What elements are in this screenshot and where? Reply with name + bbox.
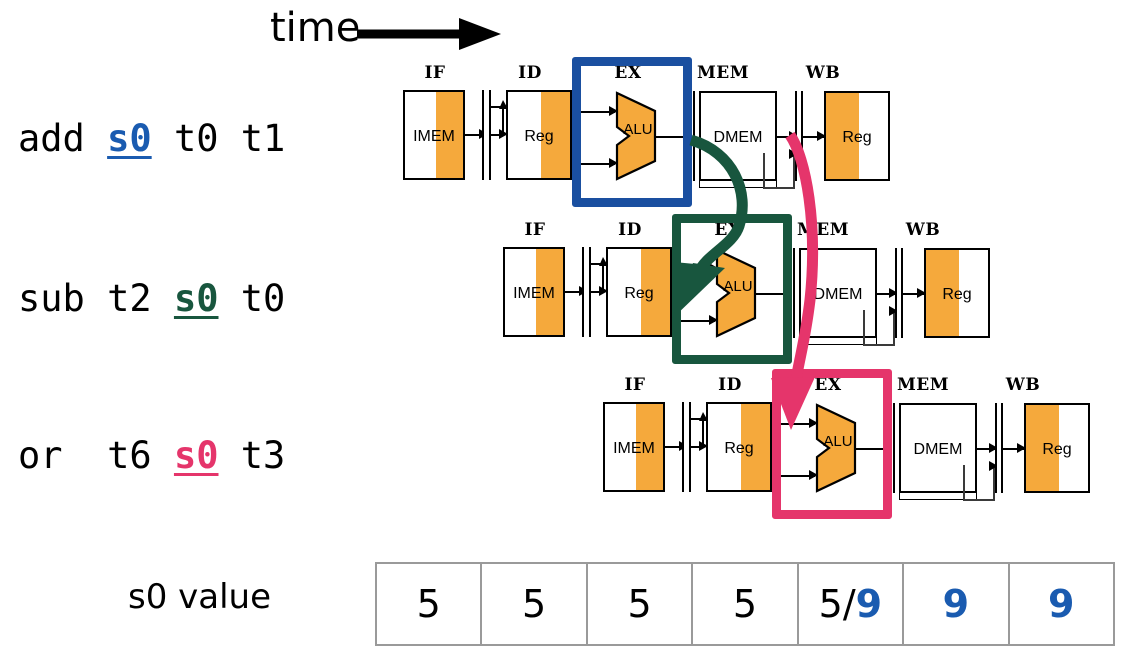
stage-label-wb: WB bbox=[988, 377, 1058, 394]
stage-label-id: ID bbox=[695, 377, 765, 394]
register-highlight-s0-or: s0 bbox=[174, 434, 219, 477]
cell-value: 5 bbox=[522, 585, 546, 623]
instruction-text-post: t3 bbox=[219, 434, 286, 477]
stage-label-if: IF bbox=[400, 65, 470, 82]
instruction-text-pre: sub t2 bbox=[18, 277, 174, 320]
instruction-row-sub: sub t2 s0 t0 bbox=[18, 280, 285, 317]
dmem-label: DMEM bbox=[701, 130, 775, 146]
wb-reg-box: Reg bbox=[1024, 403, 1090, 493]
table-cell: 5 bbox=[482, 564, 587, 644]
time-axis-label: time bbox=[270, 8, 360, 48]
dmem-label: DMEM bbox=[801, 287, 875, 303]
cell-old-value: 5/ bbox=[819, 585, 856, 623]
imem-label: IMEM bbox=[605, 441, 663, 457]
stage-label-wb: WB bbox=[888, 222, 958, 239]
id-reg-label: Reg bbox=[608, 286, 670, 302]
id-reg-box: Reg bbox=[606, 247, 672, 337]
mem-dmem-box: DMEM bbox=[699, 91, 777, 181]
wire-mem-bypass-h bbox=[863, 344, 895, 346]
id-reg-box: Reg bbox=[506, 90, 572, 180]
pipeline-register-mem-wb bbox=[995, 403, 1003, 493]
register-highlight-s0-add: s0 bbox=[107, 117, 152, 160]
id-reg-label: Reg bbox=[708, 441, 770, 457]
stage-label-mem: MEM bbox=[888, 377, 958, 394]
instruction-row-add: add s0 t0 t1 bbox=[18, 120, 285, 157]
cell-value: 5 bbox=[627, 585, 651, 623]
cell-value: 9 bbox=[1048, 585, 1074, 623]
mem-dmem-box: DMEM bbox=[799, 248, 877, 338]
pipeline-register-mem-wb bbox=[895, 248, 903, 338]
wire-mem-bypass-v bbox=[763, 153, 765, 189]
if-imem-box: IMEM bbox=[603, 402, 665, 492]
stage-label-if: IF bbox=[600, 377, 670, 394]
stage-label-id: ID bbox=[495, 65, 565, 82]
imem-label: IMEM bbox=[405, 129, 463, 145]
wb-reg-box: Reg bbox=[824, 91, 890, 181]
cell-new-value: 9 bbox=[856, 585, 882, 623]
instruction-text-post: t0 t1 bbox=[152, 117, 286, 160]
s0-value-table: 5 5 5 5 5/9 9 9 bbox=[375, 562, 1115, 646]
id-reg-box: Reg bbox=[706, 402, 772, 492]
wire-mem-bypass-h bbox=[763, 187, 795, 189]
pipeline-register-if-id bbox=[482, 90, 491, 180]
if-imem-box: IMEM bbox=[403, 90, 465, 180]
mem-dmem-box: DMEM bbox=[899, 403, 977, 493]
ex-highlight-box-add bbox=[572, 57, 692, 207]
wb-reg-label: Reg bbox=[826, 130, 888, 146]
stage-label-mem: MEM bbox=[788, 222, 858, 239]
table-cell: 9 bbox=[904, 564, 1009, 644]
imem-label: IMEM bbox=[505, 286, 563, 302]
wire-mem-bypass-v bbox=[963, 465, 965, 501]
wb-reg-box: Reg bbox=[924, 248, 990, 338]
wb-reg-label: Reg bbox=[1026, 442, 1088, 458]
cell-value: 9 bbox=[943, 585, 969, 623]
table-cell: 5 bbox=[377, 564, 482, 644]
instruction-row-or: or t6 s0 t3 bbox=[18, 437, 285, 474]
instruction-text-pre: or t6 bbox=[18, 434, 174, 477]
ex-highlight-box-sub bbox=[672, 214, 792, 364]
instruction-text-post: t0 bbox=[219, 277, 286, 320]
pipeline-forwarding-diagram: time add s0 t0 t1 sub t2 s0 t0 or t6 s0 … bbox=[0, 0, 1140, 665]
stage-label-if: IF bbox=[500, 222, 570, 239]
register-highlight-s0-sub: s0 bbox=[174, 277, 219, 320]
table-cell: 9 bbox=[1010, 564, 1113, 644]
table-cell: 5 bbox=[693, 564, 798, 644]
if-imem-box: IMEM bbox=[503, 247, 565, 337]
stage-label-wb: WB bbox=[788, 65, 858, 82]
stage-label-mem: MEM bbox=[688, 65, 758, 82]
wire-mem-bypass-v bbox=[863, 310, 865, 346]
dmem-label: DMEM bbox=[901, 442, 975, 458]
stage-label-id: ID bbox=[595, 222, 665, 239]
wb-reg-label: Reg bbox=[926, 287, 988, 303]
ex-highlight-box-or bbox=[772, 369, 892, 519]
table-cell-split: 5/9 bbox=[799, 564, 904, 644]
pipeline-register-if-id bbox=[582, 247, 591, 337]
id-reg-label: Reg bbox=[508, 129, 570, 145]
right-arrow-icon bbox=[355, 16, 505, 52]
cell-value: 5 bbox=[417, 585, 441, 623]
table-cell: 5 bbox=[588, 564, 693, 644]
cell-value: 5 bbox=[733, 585, 757, 623]
pipeline-register-if-id bbox=[682, 402, 691, 492]
wire-mem-bypass-h bbox=[963, 499, 995, 501]
pipeline-register-mem-wb bbox=[795, 91, 803, 181]
s0-value-label: s0 value bbox=[128, 580, 271, 614]
instruction-text-pre: add bbox=[18, 117, 107, 160]
